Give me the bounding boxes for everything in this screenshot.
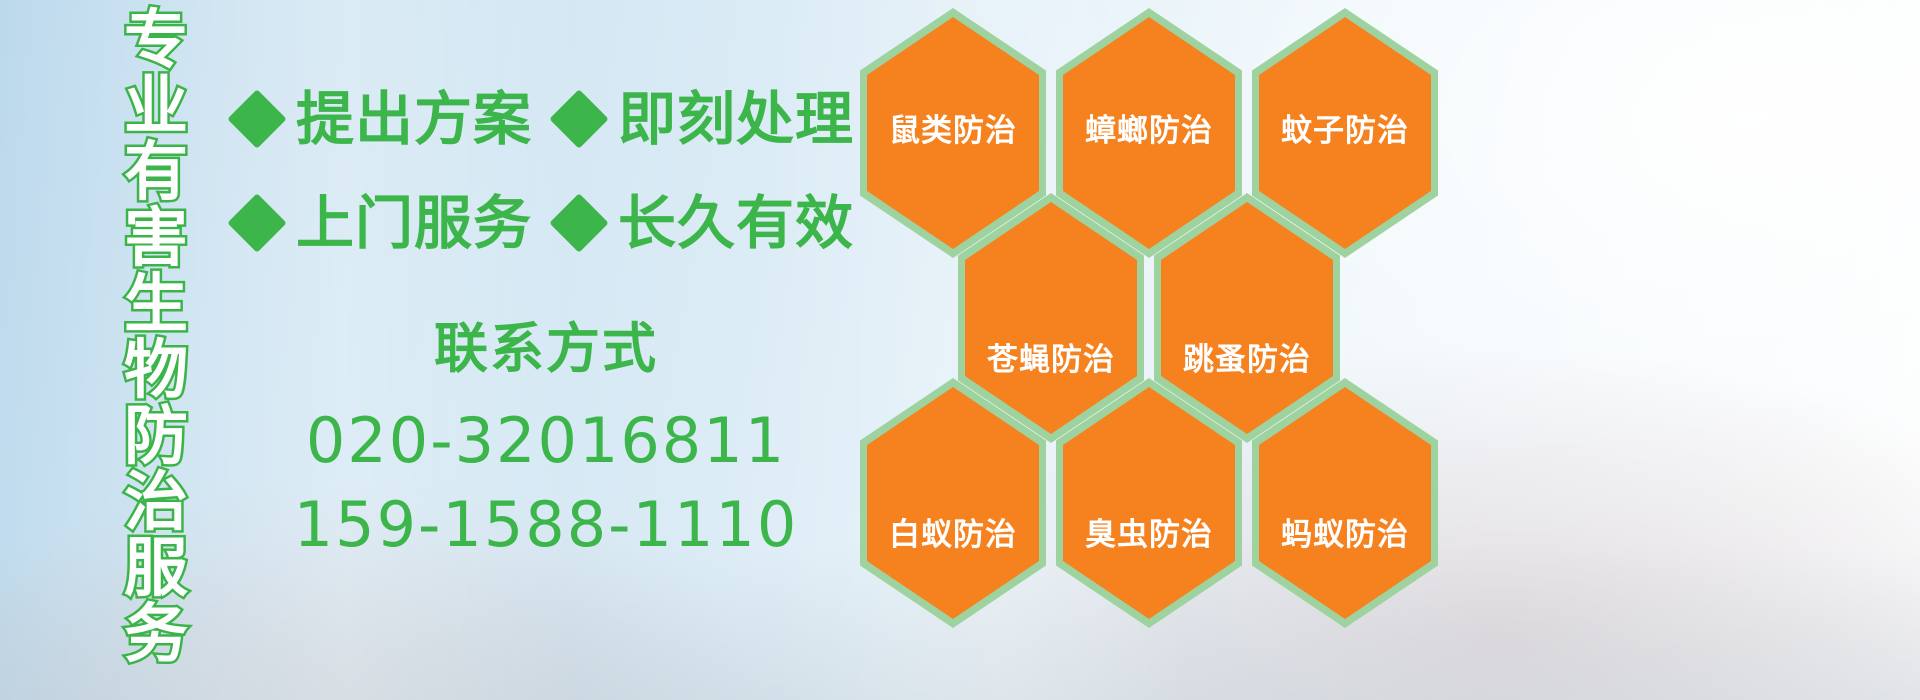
vertical-headline-char: 生 (124, 272, 188, 338)
feature-label: 即刻处理 (618, 88, 854, 150)
contact-phone-mobile[interactable]: 159-1588-1110 (236, 486, 856, 564)
service-hexagon-label: 苍蝇防治 (987, 343, 1115, 377)
service-hexagon-label: 臭虫防治 (1085, 518, 1213, 552)
feature-label: 提出方案 (296, 88, 532, 150)
feature-item-immediate-handling: 即刻处理 (558, 88, 854, 150)
feature-row-2: 上门服务 长久有效 (236, 192, 854, 254)
hexagon-fill (1161, 202, 1333, 434)
service-hexagon-label: 蟑螂防治 (1085, 114, 1213, 148)
feature-item-proposal: 提出方案 (236, 88, 532, 150)
feature-label: 长久有效 (618, 192, 854, 254)
diamond-bullet-icon (549, 89, 608, 148)
hexagon-fill (867, 387, 1039, 619)
feature-item-long-lasting: 长久有效 (558, 192, 854, 254)
contact-block: 联系方式 020-32016811 159-1588-1110 (236, 318, 856, 564)
diamond-bullet-icon (227, 193, 286, 252)
hexagon-fill (1063, 387, 1235, 619)
service-hexagon-label: 蚂蚁防治 (1281, 518, 1409, 552)
vertical-headline: 专 业 有 害 生 物 防 治 服 务 (108, 8, 204, 680)
vertical-headline-char: 服 (124, 536, 188, 602)
vertical-headline-char: 防 (124, 404, 188, 470)
feature-item-onsite-service: 上门服务 (236, 192, 532, 254)
vertical-headline-char: 务 (124, 602, 188, 668)
hexagon-fill (1259, 387, 1431, 619)
service-hexagon-label: 跳蚤防治 (1183, 343, 1311, 377)
vertical-headline-char: 治 (124, 470, 188, 536)
vertical-headline-char: 业 (124, 74, 188, 140)
feature-label: 上门服务 (296, 192, 532, 254)
service-hexagon-grid: 鼠类防治 蟑螂防治 蚊子防治 苍蝇防治 跳蚤防治 白蚁防治 臭虫防治 (852, 0, 1452, 700)
diamond-bullet-icon (549, 193, 608, 252)
vertical-headline-char: 专 (124, 8, 188, 74)
pest-control-banner: 专 业 有 害 生 物 防 治 服 务 提出方案 即刻处理 上门服务 长久有效 (0, 0, 1920, 700)
vertical-headline-char: 害 (124, 206, 188, 272)
contact-heading: 联系方式 (236, 318, 856, 380)
diamond-bullet-icon (227, 89, 286, 148)
service-hexagon-label: 白蚁防治 (889, 518, 1017, 552)
service-hexagon-label: 鼠类防治 (889, 114, 1017, 148)
feature-row-1: 提出方案 即刻处理 (236, 88, 854, 150)
vertical-headline-char: 物 (124, 338, 188, 404)
vertical-headline-char: 有 (124, 140, 188, 206)
hexagon-fill (965, 202, 1137, 434)
service-hexagon-label: 蚊子防治 (1281, 114, 1409, 148)
contact-phone-landline[interactable]: 020-32016811 (236, 402, 856, 480)
